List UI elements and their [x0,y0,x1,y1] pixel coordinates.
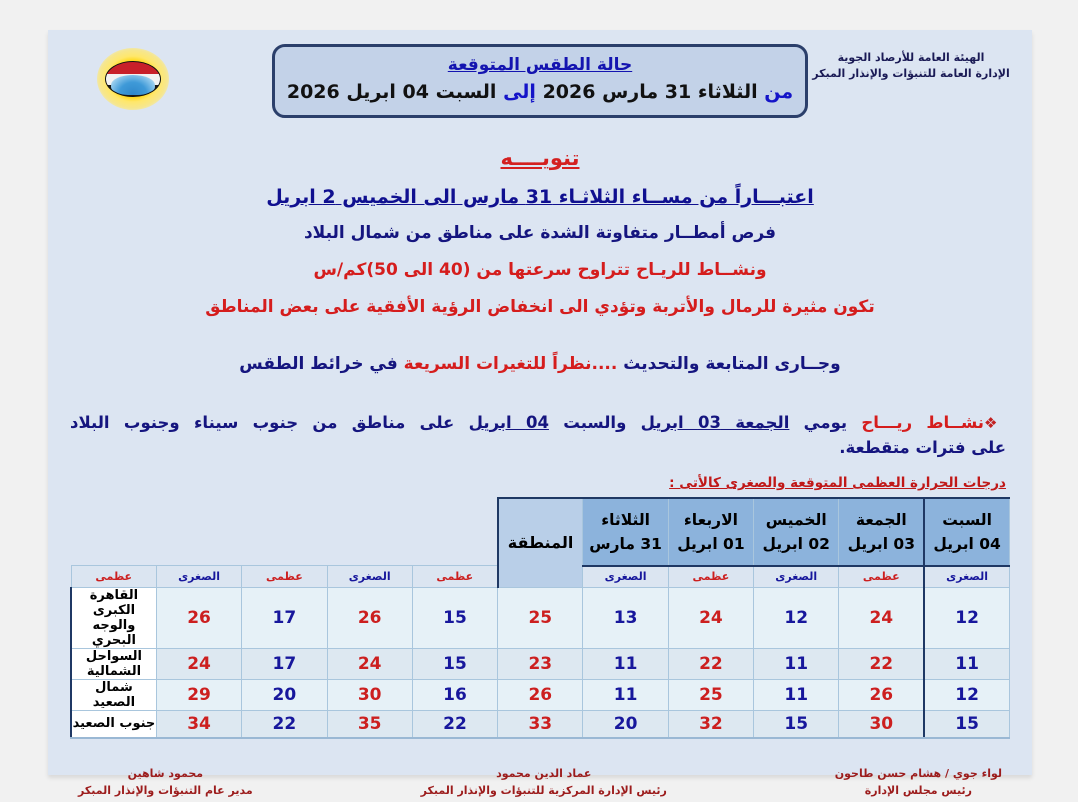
cell-max-r3-d3: 32 [668,710,753,738]
notice-line-4-part-a: وجــارى المتابعة والتحديث [623,354,840,374]
day-date-2: 02 ابريل [754,532,838,556]
signature-block-director: محمود شاهين مدير عام التنبؤات والإنذار ا… [78,765,253,800]
notice-line-1: فرص أمطــار متفاوتة الشدة على مناطق من ش… [48,222,1032,245]
notice-line-3: تكون مثيرة للرمال والأتربة وتؤدي الى انخ… [48,296,1032,319]
organization-name: الهيئة العامة للأرصاد الجوية الإدارة الع… [806,50,1016,82]
cell-max-r2-d1: 30 [327,679,412,710]
day-header-cell-1: الجمعة 03 ابريل [839,498,924,566]
cell-max-r0-d4: 24 [839,587,924,648]
organization-line-2: الإدارة العامة للتنبؤات والإنذار المبكر [806,66,1016,82]
document-footer: لواء جوي / هشام حسن طاحون رئيس مجلس الإد… [78,765,1002,800]
min-label-1: الصغرى [754,566,839,588]
region-column-header: المنطقة [498,498,583,588]
cell-min-r1-d3: 11 [754,648,839,679]
day-name-2: الخميس [754,508,838,532]
cell-max-r2-d3: 25 [668,679,753,710]
signature-role-1: رئيس الإدارة المركزية للتنبؤات والإنذار … [421,782,667,800]
cell-max-r1-d4: 22 [839,648,924,679]
date-range-start: الثلاثاء 31 مارس 2026 [543,81,758,103]
max-label-2: عظمى [412,566,497,588]
notice-spacer [48,319,1032,339]
max-label-1: عظمى [668,566,753,588]
cell-min-r3-d4: 15 [924,710,1009,738]
cell-min-r2-d0: 20 [242,679,327,710]
forecast-title-box: حالة الطقس المتوقعة من الثلاثاء 31 مارس … [272,44,808,118]
wind-advisory-date-1: الجمعة 03 ابريل [641,413,790,432]
temperature-table-wrapper: السبت 04 ابريل الجمعة 03 ابريل الخميس 02… [70,497,1010,739]
cell-min-r0-d0: 17 [242,587,327,648]
max-label-0: عظمى [839,566,924,588]
organization-line-1: الهيئة العامة للأرصاد الجوية [806,50,1016,66]
region-name-1: السواحل الشمالية [71,648,156,679]
table-row: 12 26 11 25 11 26 16 30 20 29 شمال الصعي… [71,679,1010,710]
cell-max-r1-d3: 22 [668,648,753,679]
date-range-prefix: من [764,81,793,103]
region-name-2: شمال الصعيد [71,679,156,710]
forecast-title: حالة الطقس المتوقعة [285,54,795,77]
notice-line-4-part-b: ....نظراً للتغيرات السريعة [404,354,618,374]
logo-oval-emblem [105,61,161,97]
cell-max-r0-d3: 24 [668,587,753,648]
cell-max-r3-d1: 35 [327,710,412,738]
day-date-1: 03 ابريل [839,532,923,556]
cell-min-r1-d2: 11 [583,648,668,679]
temperature-table: السبت 04 ابريل الجمعة 03 ابريل الخميس 02… [70,497,1010,739]
temperature-table-body: 12 24 12 24 13 25 15 26 17 26 القاهرة ال… [71,587,1010,738]
cell-min-r3-d1: 22 [412,710,497,738]
signature-name-1: عماد الدين محمود [421,765,667,783]
cell-min-r0-d4: 12 [924,587,1009,648]
egypt-meteorological-authority-logo-icon [94,48,172,110]
wind-advisory-highlight: نشــاط ريـــاح [861,413,984,432]
notice-line-4: وجــارى المتابعة والتحديث ....نظراً للتغ… [48,353,1032,376]
signature-role-0: مدير عام التنبؤات والإنذار المبكر [78,782,253,800]
wind-advisory-date-2: 04 ابريل [469,413,549,432]
cell-min-r0-d3: 12 [754,587,839,648]
notice-line-2: ونشــاط للريـاح تتراوح سرعتها من (40 الى… [48,259,1032,282]
day-date-0: 04 ابريل [925,532,1009,556]
day-date-4: 31 مارس [583,532,667,556]
min-label-2: الصغرى [583,566,668,588]
day-name-3: الاربعاء [669,508,753,532]
day-name-4: الثلاثاء [583,508,667,532]
cell-min-r0-d1: 15 [412,587,497,648]
day-header-cell-4: الثلاثاء 31 مارس [583,498,668,566]
cell-min-r1-d0: 17 [242,648,327,679]
signature-name-0: محمود شاهين [78,765,253,783]
cell-min-r2-d1: 16 [412,679,497,710]
cell-min-r1-d1: 15 [412,648,497,679]
signature-block-chairman: لواء جوي / هشام حسن طاحون رئيس مجلس الإد… [835,765,1002,800]
notice-heading: تنويــــه [48,146,1032,170]
wind-advisory-before: يومي [804,413,847,432]
day-header-cell-3: الاربعاء 01 ابريل [668,498,753,566]
logo-mountain-shape [111,75,155,95]
cell-max-r2-d0: 29 [156,679,241,710]
wind-advisory-after: على مناطق من جنوب سيناء وجنوب البلاد [70,413,454,432]
signature-role-2: رئيس مجلس الإدارة [835,782,1002,800]
day-header-cell-2: الخميس 02 ابريل [754,498,839,566]
cell-max-r0-d0: 26 [156,587,241,648]
document-header: حالة الطقس المتوقعة من الثلاثاء 31 مارس … [48,30,1032,122]
forecast-document: حالة الطقس المتوقعة من الثلاثاء 31 مارس … [48,30,1032,775]
forecast-date-range: من الثلاثاء 31 مارس 2026 إلى السبت 04 اب… [285,79,795,106]
cell-min-r2-d3: 11 [754,679,839,710]
wind-advisory-paragraph-line-2: على فترات متقطعة. [70,436,1006,461]
max-label-4: عظمى [71,566,156,588]
min-label-3: الصغرى [327,566,412,588]
cell-min-r3-d0: 22 [242,710,327,738]
max-label-3: عظمى [242,566,327,588]
cell-min-r3-d3: 15 [754,710,839,738]
logo-band-red [106,62,160,74]
cell-max-r0-d1: 26 [327,587,412,648]
cell-max-r2-d2: 26 [498,679,583,710]
cell-max-r1-d0: 24 [156,648,241,679]
table-row: 12 24 12 24 13 25 15 26 17 26 القاهرة ال… [71,587,1010,648]
signature-block-central-head: عماد الدين محمود رئيس الإدارة المركزية ل… [421,765,667,800]
cell-max-r1-d1: 24 [327,648,412,679]
wind-advisory-mid: والسبت [563,413,626,432]
notice-section: تنويــــه اعتبـــاراً من مســاء الثلاثـا… [48,146,1032,376]
day-name-0: السبت [925,508,1009,532]
cell-min-r2-d2: 11 [583,679,668,710]
notice-subheading: اعتبـــاراً من مســاء الثلاثـاء 31 مارس … [48,186,1032,208]
cell-min-r1-d4: 11 [924,648,1009,679]
signature-name-2: لواء جوي / هشام حسن طاحون [835,765,1002,783]
min-label-4: الصغرى [156,566,241,588]
day-name-1: الجمعة [839,508,923,532]
cell-max-r3-d0: 34 [156,710,241,738]
day-header-cell-0: السبت 04 ابريل [924,498,1009,566]
min-label-0: الصغرى [924,566,1009,588]
cell-max-r3-d4: 30 [839,710,924,738]
cell-max-r0-d2: 25 [498,587,583,648]
day-date-3: 01 ابريل [669,532,753,556]
region-name-0: القاهرة الكبرى والوجه البحري [71,587,156,648]
date-range-end: السبت 04 ابريل 2026 [287,81,497,103]
notice-line-4-part-c: في خرائط الطقس [239,354,397,374]
region-name-3: جنوب الصعيد [71,710,156,738]
table-header-days-row: السبت 04 ابريل الجمعة 03 ابريل الخميس 02… [71,498,1010,566]
cell-min-r2-d4: 12 [924,679,1009,710]
table-row: 15 30 15 32 20 33 22 35 22 34 جنوب الصعي… [71,710,1010,738]
cell-max-r2-d4: 26 [839,679,924,710]
table-row: 11 22 11 22 11 23 15 24 17 24 السواحل ال… [71,648,1010,679]
temperature-table-head: السبت 04 ابريل الجمعة 03 ابريل الخميس 02… [71,498,1010,588]
cell-max-r3-d2: 33 [498,710,583,738]
wind-advisory-paragraph: ❖نشــاط ريـــاح يومي الجمعة 03 ابريل وال… [70,410,1006,436]
date-range-connector: إلى [503,81,536,103]
cell-min-r3-d2: 20 [583,710,668,738]
bullet-marker-icon: ❖ [984,414,1006,432]
cell-max-r1-d2: 23 [498,648,583,679]
cell-min-r0-d2: 13 [583,587,668,648]
temperature-table-caption: درجات الحرارة العظمى المتوقعة والصغرى كا… [48,475,1006,491]
